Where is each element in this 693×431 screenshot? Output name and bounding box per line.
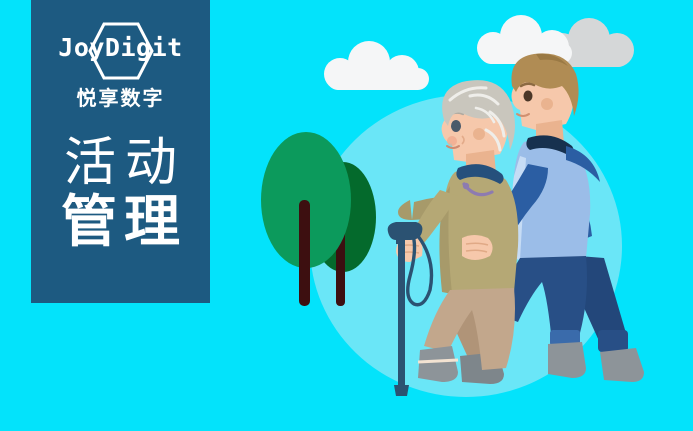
- logo-chinese-name: 悦享数字: [77, 88, 165, 108]
- page-title: 活动 管理: [31, 134, 210, 254]
- logo-wordmark: JoyDigit: [46, 35, 196, 60]
- page-title-line-2: 管理: [31, 192, 210, 254]
- page-title-line-1: 活动: [31, 134, 210, 192]
- poster-canvas: JoyDigit 悦享数字 活动 管理: [0, 0, 693, 431]
- brand-panel: JoyDigit 悦享数字 活动 管理: [31, 0, 210, 303]
- logo: JoyDigit: [46, 22, 196, 84]
